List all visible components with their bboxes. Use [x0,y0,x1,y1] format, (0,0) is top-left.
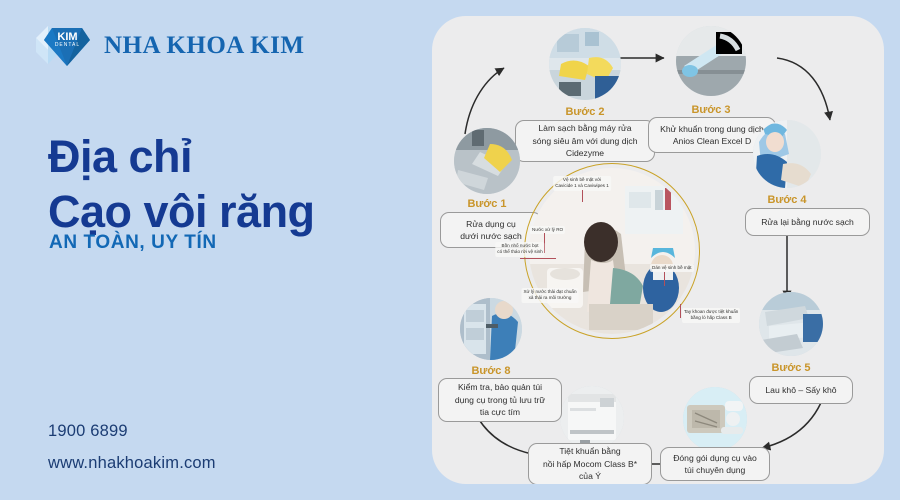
left-promo-panel: KIM DENTAL NHA KHOA KIM Địa chỉ Cạo vôi … [0,0,432,500]
callout-handpiece: Tay khoan được tiệt khuẩn bằng lò hấp Cl… [682,308,740,323]
step-7-photo [560,386,624,450]
callout-waste-water: Xử lý nước thải đạt chuẩn xả thải ra môi… [521,288,578,303]
step-7-description: Tiệt khuẩn bằng nồi hấp Mocom Class B* c… [528,443,652,484]
contact-block: 1900 6899 www.nhakhoakim.com [48,415,216,479]
headline-line-1: Địa chỉ [48,131,192,182]
brand-lockup: KIM DENTAL NHA KHOA KIM [30,18,304,74]
callout-surface-disinfect-leader [582,190,583,202]
step-8-description: Kiểm tra, bảo quản túi dụng cụ trong tủ … [438,378,562,422]
step-4-photo [753,120,821,188]
logo-dental-text: DENTAL [52,43,83,48]
callout-surface-disinfect: Vệ sinh bề mặt với Cavicide 1 và Caviwip… [553,176,611,191]
callout-handpiece-leader [680,304,681,318]
callout-surface-film-leader [664,272,665,286]
step-3-photo [676,26,746,96]
page-title: Địa chỉ Cạo vôi răng [48,130,315,240]
subheading: AN TOÀN, UY TÍN [49,232,217,254]
step-1-photo [454,128,520,194]
step-5-label: Bước 5 [759,362,823,374]
step-2-photo [549,28,621,100]
step-4-label: Bước 4 [753,194,821,206]
step-5-photo [759,292,823,356]
step-4-description: Rửa lại bằng nước sạch [745,208,870,236]
website-url[interactable]: www.nhakhoakim.com [48,447,216,479]
brand-name: NHA KHOA KIM [104,32,304,60]
step-1-label: Bước 1 [454,198,520,210]
step-5-description: Lau khô – Sấy khô [749,376,853,404]
step-6-description: Đóng gói dụng cụ vào túi chuyên dụng [660,447,770,481]
step-8-label: Bước 8 [460,365,522,377]
callout-surface-film: Dán vệ sinh bề mặt [650,264,694,272]
center-highlight-ring [524,163,700,339]
step-3-label: Bước 3 [676,104,746,116]
step-6-photo [683,387,747,451]
callout-spittoon-leader [520,258,556,259]
callout-spittoon: Bồn nhổ nước bọt có thể tháo rời vệ sinh [495,242,544,257]
sterilization-process-diagram: Bước 2 Làm sạch bằng máy rửa sóng siêu â… [432,16,884,484]
kim-dental-diamond-logo-icon: KIM DENTAL [30,18,92,74]
phone-number[interactable]: 1900 6899 [48,415,216,447]
step-8-photo [460,298,522,360]
step-2-description: Làm sạch bằng máy rửa sóng siêu âm với d… [515,120,655,162]
callout-ro-water: Nước xử lý RO [530,226,565,234]
step-2-label: Bước 2 [549,106,621,118]
